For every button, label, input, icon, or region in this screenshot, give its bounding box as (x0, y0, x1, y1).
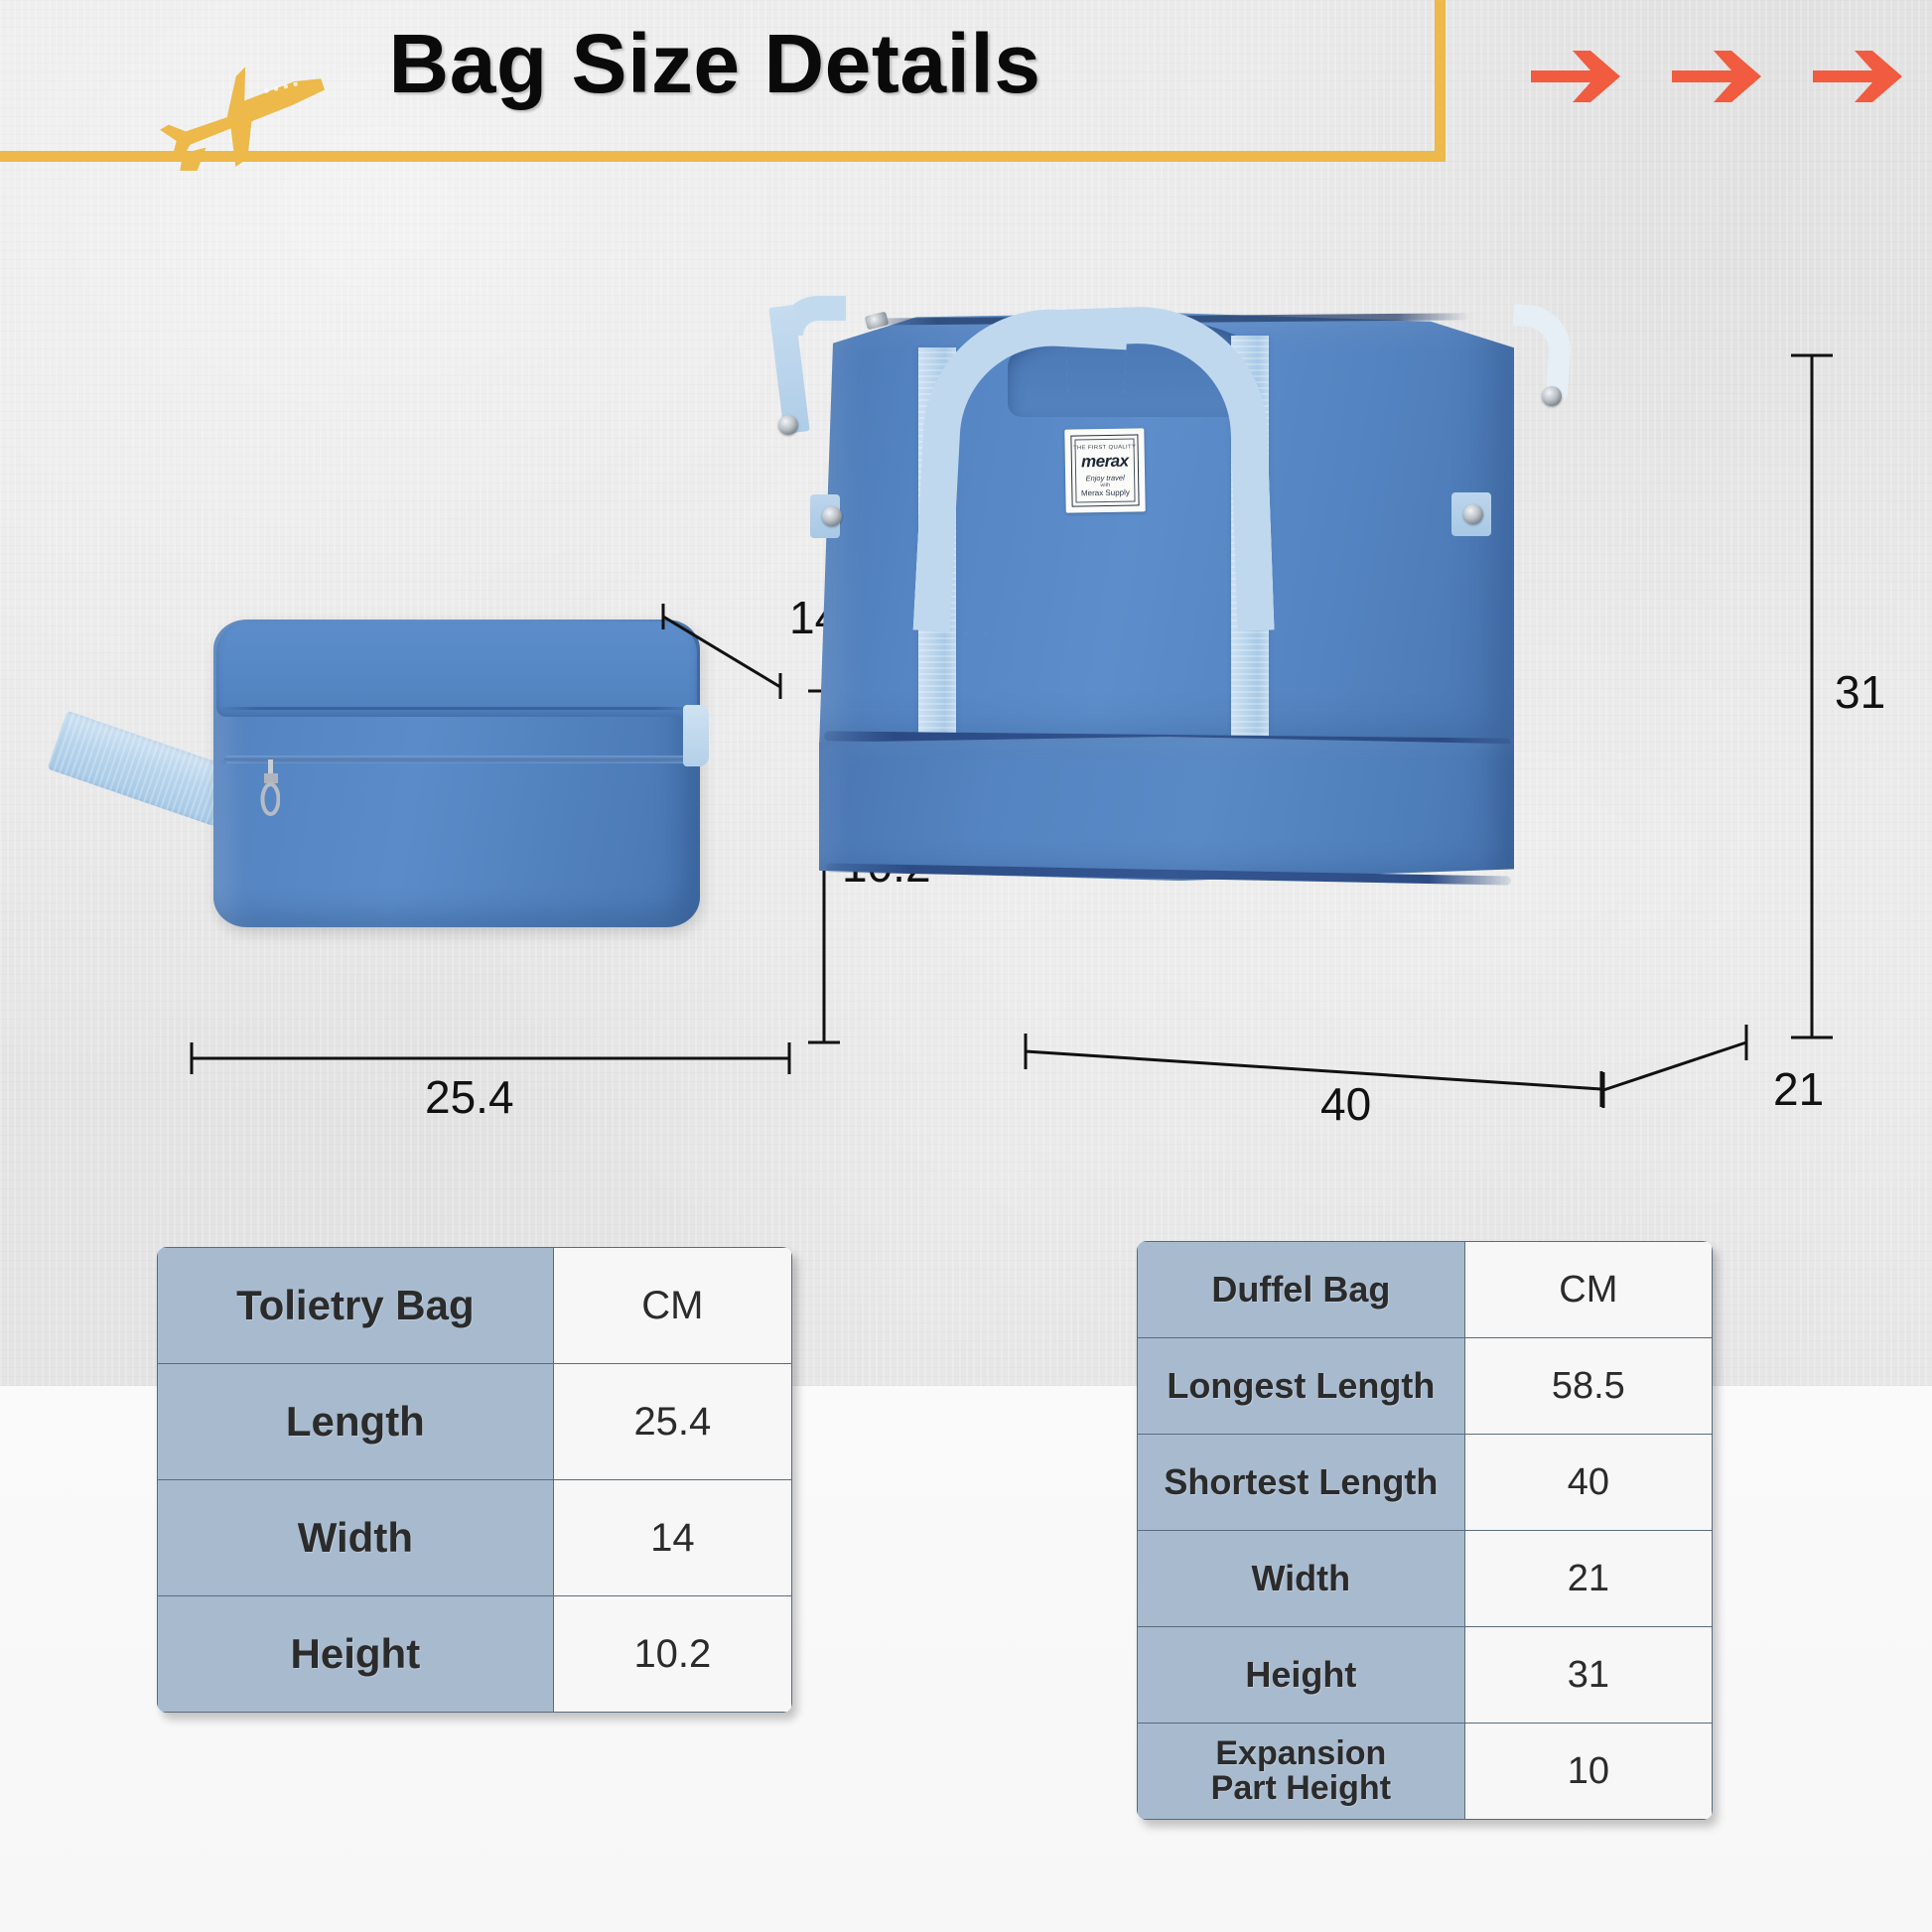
duffel-table-header-unit: CM (1464, 1242, 1712, 1338)
duffel-row-label-shortest-length: Shortest Length (1138, 1435, 1465, 1531)
duffel-expansion-panel (819, 737, 1514, 881)
arrow-right-icon (1529, 47, 1624, 106)
snap-button-icon (1463, 504, 1483, 524)
snap-button-icon (1542, 386, 1562, 406)
toiletry-table-header-unit: CM (553, 1248, 791, 1364)
label-brand-name: merax (1081, 451, 1129, 472)
expansion-label-line2: Part Height (1211, 1769, 1391, 1807)
gold-vertical-rule (1435, 0, 1446, 162)
toiletry-row-value-length: 25.4 (553, 1364, 791, 1480)
table-row: Width 14 (158, 1480, 792, 1596)
toiletry-row-label-height: Height (158, 1596, 554, 1713)
duffel-row-value-expansion-part-height: 10 (1464, 1724, 1712, 1820)
toiletry-wrist-strap (48, 711, 234, 827)
duffel-row-value-height: 31 (1464, 1627, 1712, 1724)
duffel-row-value-longest-length: 58.5 (1464, 1338, 1712, 1435)
table-row: Height 10.2 (158, 1596, 792, 1713)
table-row: Width 21 (1138, 1531, 1713, 1627)
table-row: Shortest Length 40 (1138, 1435, 1713, 1531)
toiletry-zipper-track (224, 756, 689, 763)
table-row: Tolietry Bag CM (158, 1248, 792, 1364)
duffel-length-label: 40 (1320, 1077, 1371, 1131)
label-tagline: Enjoy travel (1085, 473, 1124, 483)
duffel-row-label-width: Width (1138, 1531, 1465, 1627)
toiletry-length-label: 25.4 (425, 1070, 514, 1124)
table-row: Expansion Part Height 10 (1138, 1724, 1713, 1820)
snap-button-icon (822, 506, 842, 526)
arrow-decoration-group (1529, 42, 1906, 111)
table-row: Length 25.4 (158, 1364, 792, 1480)
duffel-row-label-height: Height (1138, 1627, 1465, 1724)
toiletry-top-panel (216, 621, 697, 717)
duffel-right-hang-strap (1508, 304, 1574, 397)
page-title: Bag Size Details (0, 16, 1430, 112)
arrow-right-icon (1811, 47, 1906, 106)
brand-label: THE FIRST QUALITY merax Enjoy travel wit… (1064, 428, 1145, 512)
toiletry-table-header-label: Tolietry Bag (158, 1248, 554, 1364)
duffel-row-label-longest-length: Longest Length (1138, 1338, 1465, 1435)
table-row: Duffel Bag CM (1138, 1242, 1713, 1338)
duffel-spec-table: Duffel Bag CM Longest Length 58.5 Shorte… (1137, 1241, 1713, 1820)
expansion-label-line1: Expansion (1215, 1734, 1386, 1772)
arrow-right-icon (1670, 47, 1765, 106)
toiletry-row-value-height: 10.2 (553, 1596, 791, 1713)
snap-button-icon (778, 415, 798, 435)
table-row: Longest Length 58.5 (1138, 1338, 1713, 1435)
zipper-pull-icon (260, 759, 280, 817)
duffel-table-header-label: Duffel Bag (1138, 1242, 1465, 1338)
duffel-row-value-shortest-length: 40 (1464, 1435, 1712, 1531)
toiletry-spec-table: Tolietry Bag CM Length 25.4 Width 14 Hei… (157, 1247, 792, 1713)
duffel-height-label: 31 (1835, 665, 1885, 719)
duffel-row-label-expansion-part-height: Expansion Part Height (1138, 1724, 1465, 1820)
label-supply-text: Merax Supply (1081, 487, 1130, 497)
label-quality-text: THE FIRST QUALITY (1073, 444, 1136, 451)
toiletry-row-label-width: Width (158, 1480, 554, 1596)
toiletry-row-label-length: Length (158, 1364, 554, 1480)
duffel-width-label: 21 (1773, 1062, 1824, 1116)
toiletry-row-value-width: 14 (553, 1480, 791, 1596)
table-row: Height 31 (1138, 1627, 1713, 1724)
duffel-row-value-width: 21 (1464, 1531, 1712, 1627)
toiletry-stitch-line (220, 707, 693, 710)
